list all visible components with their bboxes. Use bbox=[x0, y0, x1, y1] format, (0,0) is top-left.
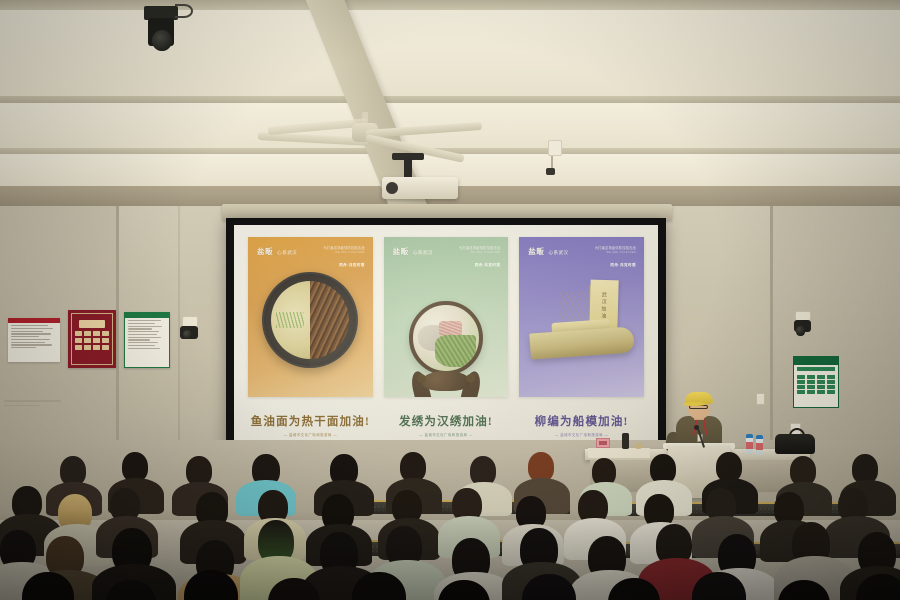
bottle-cap bbox=[746, 434, 753, 438]
wall-sensor-icon bbox=[548, 140, 562, 156]
poster-meta: 为打赢这场疫情防控阻击战 WE ARE TOGETHER bbox=[323, 246, 364, 254]
honor-board-title-plate bbox=[79, 320, 105, 328]
poster-meta-line2: WE ARE TOGETHER bbox=[323, 251, 364, 254]
projector-lens-icon bbox=[386, 182, 398, 194]
poster-logo-sub: 心系武汉 bbox=[413, 250, 433, 256]
embroidery-disc-icon bbox=[409, 301, 483, 375]
poster-tag: 同舟·共克时艰 bbox=[339, 263, 365, 268]
poster-meta-line2: WE ARE TOGETHER bbox=[595, 251, 636, 254]
sign-content-grid bbox=[794, 373, 838, 396]
poster-caption-sub: — 盐城市文化广电和旅游局 — bbox=[555, 432, 608, 437]
poster-logo-main: 盐畈 bbox=[393, 246, 409, 257]
presentation-slide: 盐畈 心系武汉 为打赢这场疫情防控阻击战 WE ARE TOGETHER 同舟·… bbox=[234, 225, 658, 455]
bottle-cap bbox=[756, 435, 763, 439]
poster-meta: 为打赢这场疫情防控阻击战 WE ARE TOGETHER bbox=[595, 246, 636, 254]
bottle-label bbox=[756, 443, 763, 450]
poster-tag: 同舟·共克时艰 bbox=[610, 263, 636, 268]
desk-object bbox=[634, 443, 643, 449]
evacuation-sign bbox=[793, 356, 839, 408]
poster-logo: 盐畈 心系武汉 bbox=[393, 246, 433, 257]
ceiling-panel bbox=[0, 10, 900, 96]
poster-caption-sub: — 盐城市文化广电和旅游局 — bbox=[419, 432, 472, 437]
notice-body bbox=[8, 323, 60, 352]
bottle-label bbox=[746, 442, 753, 449]
wall-sensor-head bbox=[546, 168, 555, 175]
poster-tag: 同舟·共克时艰 bbox=[475, 263, 501, 268]
embroidery-motif-accent bbox=[439, 321, 461, 337]
poster-logo: 盐畈 心系武汉 bbox=[257, 246, 297, 257]
spotlight-lens-icon bbox=[152, 30, 172, 51]
camera-lens-icon bbox=[183, 330, 192, 339]
wall-notice-green bbox=[124, 312, 170, 368]
noodle-bowl-icon bbox=[262, 272, 358, 368]
honor-board-inner-frame bbox=[71, 313, 113, 365]
poster-item: 盐畈 心系武汉 为打赢这场疫情防控阻击战 WE ARE TOGETHER 同舟·… bbox=[519, 237, 644, 451]
poster-logo-sub: 心系武汉 bbox=[277, 250, 297, 256]
notice-body bbox=[125, 318, 169, 353]
embroidery-wooden-stand bbox=[413, 365, 479, 397]
stand-scrollwork bbox=[422, 371, 470, 391]
poster-artwork-hair-embroidery: 盐畈 心系武汉 为打赢这场疫情防控阻击战 WE ARE TOGETHER 同舟·… bbox=[384, 237, 509, 397]
embroidery-motif-field bbox=[435, 335, 476, 367]
poster-artwork-fish-oil-noodles: 盐畈 心系武汉 为打赢这场疫情防控阻击战 WE ARE TOGETHER 同舟·… bbox=[248, 237, 373, 397]
stand-knob bbox=[466, 374, 475, 383]
projector-mount-arm bbox=[404, 158, 412, 178]
desk-device bbox=[622, 433, 629, 449]
wall-notice-red bbox=[8, 318, 60, 362]
shoulder-bag-icon bbox=[775, 434, 815, 454]
poster-caption-sub: — 盐城市文化广电和旅游局 — bbox=[284, 432, 337, 437]
ceiling-beam-band bbox=[0, 0, 900, 10]
poster-logo: 盐畈 心系武汉 bbox=[528, 246, 568, 257]
poster-artwork-willow-boat: 盐畈 心系武汉 为打赢这场疫情防控阻击战 WE ARE TOGETHER 同舟·… bbox=[519, 237, 644, 397]
camera-lens-icon bbox=[796, 326, 805, 336]
spotlight-bracket bbox=[175, 4, 193, 18]
faint-wall-text bbox=[4, 400, 64, 416]
projection-screen: 盐畈 心系武汉 为打赢这场疫情防控阻击战 WE ARE TOGETHER 同舟·… bbox=[226, 218, 666, 464]
ceiling-beam-band bbox=[0, 96, 900, 103]
boat-sail-text: 武汉加油 bbox=[600, 292, 608, 320]
boat-hull-icon bbox=[529, 326, 635, 359]
poster-caption-main: 柳编为船模加油! bbox=[535, 413, 629, 429]
poster-item: 盐畈 心系武汉 为打赢这场疫情防控阻击战 WE ARE TOGETHER 同舟·… bbox=[384, 237, 509, 451]
poster-meta-line2: WE ARE TOGETHER bbox=[459, 251, 500, 254]
poster-item: 盐畈 心系武汉 为打赢这场疫情防控阻击战 WE ARE TOGETHER 同舟·… bbox=[248, 237, 373, 451]
screen-canvas: 盐畈 心系武汉 为打赢这场疫情防控阻击战 WE ARE TOGETHER 同舟·… bbox=[234, 225, 658, 455]
honor-board-name-grid bbox=[72, 331, 112, 350]
poster-logo-main: 盐畈 bbox=[528, 246, 544, 257]
poster-meta: 为打赢这场疫情防控阻击战 WE ARE TOGETHER bbox=[459, 246, 500, 254]
wall-outlet bbox=[756, 393, 765, 405]
desk-placard bbox=[596, 438, 610, 448]
sign-subheader-band bbox=[797, 367, 835, 371]
sign-header-band bbox=[794, 357, 838, 365]
poster-logo-sub: 心系武汉 bbox=[548, 250, 568, 256]
microphone-icon bbox=[694, 425, 699, 430]
poster-logo-main: 盐畈 bbox=[257, 246, 273, 257]
wall-notice-honor-board bbox=[68, 310, 116, 368]
audience-area bbox=[0, 452, 900, 600]
lecture-hall-photo: EPSON bbox=[0, 0, 900, 600]
stand-knob bbox=[417, 374, 426, 383]
poster-caption-main: 鱼油面为热干面加油! bbox=[251, 413, 370, 429]
presenter-cap-brim bbox=[683, 402, 705, 406]
bowl-rim bbox=[262, 272, 358, 368]
poster-caption-main: 发绣为汉绣加油! bbox=[399, 413, 493, 429]
